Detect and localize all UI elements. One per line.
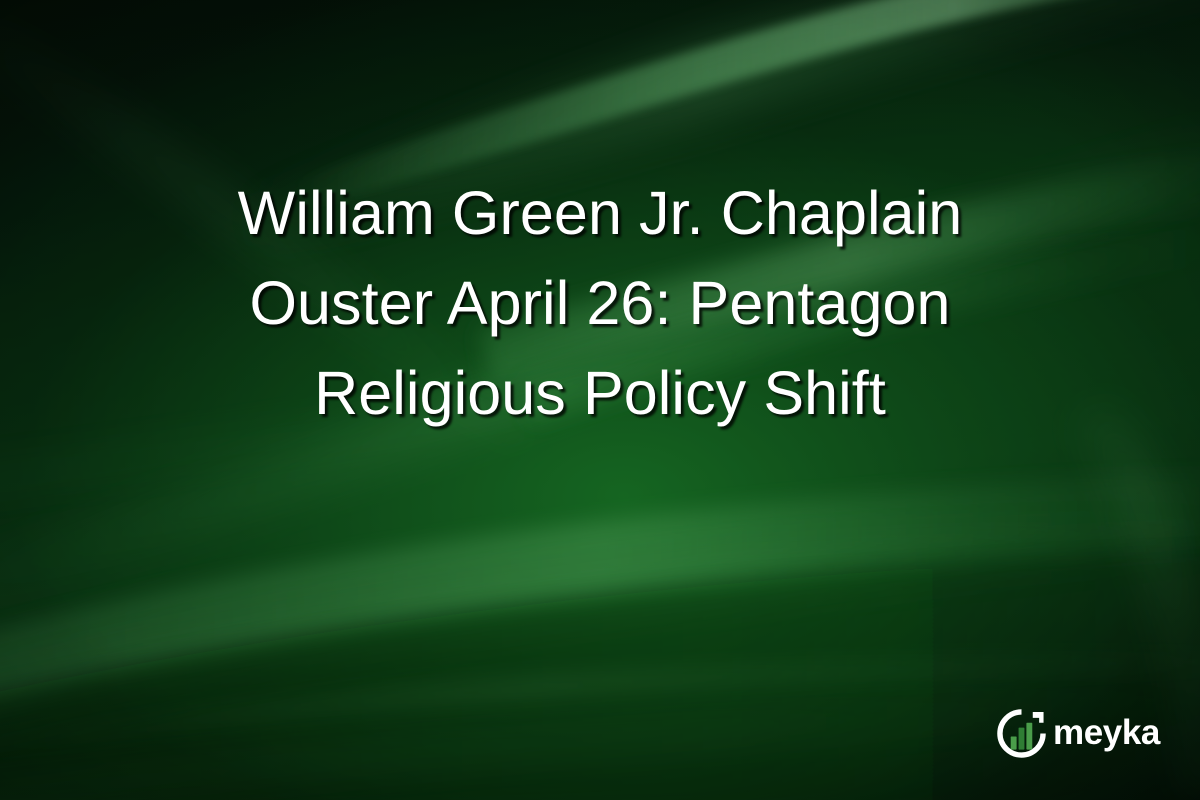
brand-logo[interactable]: meyka	[997, 709, 1160, 758]
brand-wordmark: meyka	[1053, 715, 1160, 752]
headline-line-1: William Green Jr. Chaplain	[238, 168, 963, 258]
headline-line-3: Religious Policy Shift	[314, 348, 886, 438]
headline-block: William Green Jr. Chaplain Ouster April …	[0, 168, 1200, 438]
circular-arrow-bar-chart-icon	[997, 709, 1046, 758]
headline-line-2: Ouster April 26: Pentagon	[249, 258, 950, 348]
banner-card: William Green Jr. Chaplain Ouster April …	[0, 0, 1200, 800]
